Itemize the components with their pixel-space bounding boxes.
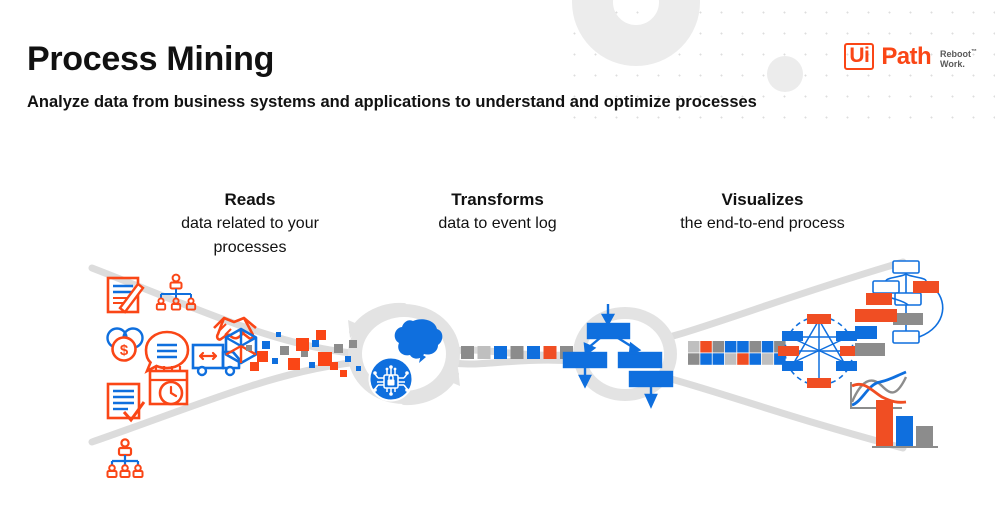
event-grid-cell <box>737 341 749 353</box>
event-grid-cell <box>725 353 737 365</box>
logo-tagline-line2: Work. <box>940 59 965 69</box>
event-grid-cell <box>713 341 725 353</box>
checklist-document-icon <box>108 384 144 420</box>
trademark-symbol: ™ <box>971 49 977 55</box>
event-grid-cell <box>700 353 712 365</box>
event-grid-cell <box>688 341 700 353</box>
logo-wordmark: Path <box>881 45 931 69</box>
event-log-cell <box>544 346 557 359</box>
slide-canvas: Process Mining Analyze data from busines… <box>0 0 995 511</box>
event-grid-cell <box>725 341 737 353</box>
stage-subtext-line1: the end-to-end process <box>630 212 895 236</box>
org-chart-people-icon <box>108 439 143 477</box>
chat-bubble-lines-icon <box>146 332 188 371</box>
logo-mark: Ui <box>844 43 874 70</box>
stage-heading: Reads <box>125 188 375 212</box>
vertical-bar-chart <box>872 400 938 447</box>
event-grid-cell <box>762 353 774 365</box>
event-log-cell <box>527 346 540 359</box>
network-graph-icon <box>778 314 861 388</box>
header: Process Mining Analyze data from busines… <box>27 38 757 112</box>
event-grid-cell <box>713 353 725 365</box>
hierarchy-icon <box>157 275 195 310</box>
event-log-cell <box>494 346 507 359</box>
ai-chip-lock-icon <box>370 358 413 401</box>
event-log-cell <box>461 346 474 359</box>
event-grid-cell <box>762 341 774 353</box>
coins-dollar-icon: $ <box>108 329 143 361</box>
event-log-cell <box>478 346 491 359</box>
event-grid-cell <box>750 353 762 365</box>
event-log-sequence <box>461 346 573 359</box>
stage-subtext-line1: data related to your <box>125 212 375 236</box>
stage-heading: Transforms <box>375 188 620 212</box>
decorative-circle <box>767 56 803 92</box>
event-grid-cell <box>688 353 700 365</box>
calendar-clock-icon <box>150 366 187 404</box>
stage-subtext-line1: data to event log <box>375 212 620 236</box>
uipath-logo: Ui Path Reboot™ Work. <box>844 43 977 70</box>
event-grid-cell <box>737 353 749 365</box>
event-grid-cell <box>700 341 712 353</box>
logo-tagline: Reboot™ Work. <box>940 47 977 69</box>
stage-caption-transforms: Transforms data to event log <box>375 188 620 236</box>
stage-caption-visualizes: Visualizes the end-to-end process <box>630 188 895 236</box>
event-grid-cell <box>750 341 762 353</box>
horizontal-bar-chart <box>855 309 897 356</box>
svg-text:$: $ <box>120 342 129 359</box>
handshake-icon <box>214 318 256 340</box>
stage-heading: Visualizes <box>630 188 895 212</box>
delivery-truck-icon <box>193 345 239 375</box>
logo-tagline-line1: Reboot <box>940 49 971 59</box>
event-log-cell <box>511 346 524 359</box>
output-event-grid <box>688 341 786 365</box>
page-subtitle: Analyze data from business systems and a… <box>27 92 757 112</box>
process-mining-illustration: $ <box>0 246 995 486</box>
page-title: Process Mining <box>27 38 757 80</box>
